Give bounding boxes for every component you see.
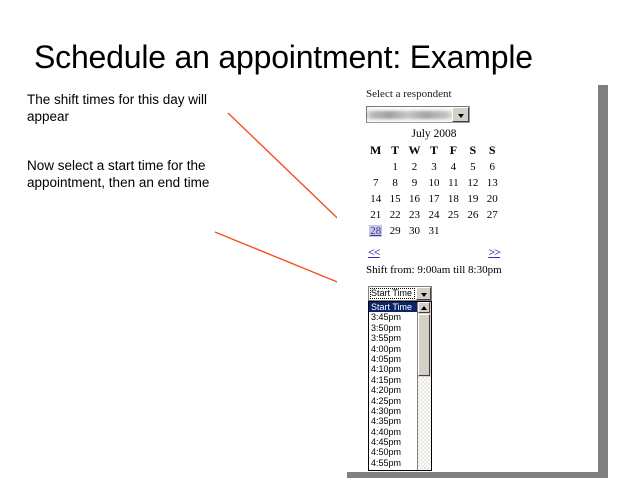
calendar-navigation: << >> [366,245,502,260]
calendar-day [483,223,502,239]
respondent-select-value [367,107,452,122]
start-time-option[interactable]: 4:00pm [369,344,417,354]
start-time-select-value: Start Time [369,287,416,300]
calendar-day[interactable]: 22 [385,207,404,223]
start-time-option[interactable]: 4:35pm [369,416,417,426]
calendar-week-row: 28 29 30 31 [366,223,502,239]
calendar-weekday: F [444,142,463,159]
start-time-option[interactable]: 4:30pm [369,406,417,416]
scroll-up-arrow-icon[interactable] [418,302,430,313]
start-time-list-scrollbar[interactable] [417,302,431,470]
start-time-option[interactable]: 4:20pm [369,385,417,395]
panel-shadow-right [598,85,608,477]
calendar-day[interactable]: 24 [424,207,443,223]
calendar-day[interactable]: 4 [444,159,463,175]
calendar-day[interactable]: 31 [424,223,443,239]
start-time-option[interactable]: 3:45pm [369,312,417,322]
calendar-month-label: July 2008 [366,128,502,142]
calendar-day[interactable]: 8 [385,175,404,191]
calendar-weekday: T [424,142,443,159]
arrow-line-shift-times [228,113,355,235]
calendar-day[interactable]: 13 [483,175,502,191]
chevron-down-icon[interactable] [416,287,431,300]
calendar-day[interactable]: 21 [366,207,385,223]
calendar-weekday: S [463,142,482,159]
calendar-widget: July 2008 M T W T F S S 1 2 3 [366,128,502,260]
start-time-option[interactable]: 4:40pm [369,427,417,437]
calendar-day [444,223,463,239]
calendar-day[interactable]: 17 [424,191,443,207]
start-time-dropdown-list[interactable]: Start Time 3:45pm 3:50pm 3:55pm 4:00pm 4… [368,301,432,471]
calendar-day[interactable]: 16 [405,191,424,207]
start-time-option[interactable]: 4:45pm [369,437,417,447]
start-time-option[interactable]: 4:05pm [369,354,417,364]
calendar-day[interactable]: 23 [405,207,424,223]
calendar-day[interactable]: 26 [463,207,482,223]
calendar-day[interactable]: 29 [385,223,404,239]
calendar-day[interactable]: 6 [483,159,502,175]
start-time-option[interactable]: 4:50pm [369,447,417,457]
respondent-select[interactable] [366,106,470,123]
calendar-day[interactable]: 30 [405,223,424,239]
calendar-weekday: M [366,142,385,159]
app-screenshot-panel: Select a respondent July 2008 M T W T F … [337,80,598,472]
respondent-label: Select a respondent [366,88,452,100]
calendar-prev-month-link[interactable]: << [368,245,380,260]
calendar-day[interactable]: 20 [483,191,502,207]
calendar-day[interactable]: 2 [405,159,424,175]
calendar-day[interactable]: 27 [483,207,502,223]
calendar-weekday: W [405,142,424,159]
start-time-option[interactable]: 4:25pm [369,396,417,406]
calendar-day[interactable]: 1 [385,159,404,175]
calendar-next-month-link[interactable]: >> [488,245,500,260]
calendar-day[interactable]: 11 [444,175,463,191]
calendar-day-selected-label: 28 [369,225,382,237]
start-time-option[interactable]: 3:50pm [369,323,417,333]
calendar-day[interactable]: 7 [366,175,385,191]
calendar-week-row: 7 8 9 10 11 12 13 [366,175,502,191]
annotation-select-start-time: Now select a start time for the appointm… [27,157,242,191]
start-time-option[interactable]: 4:10pm [369,364,417,374]
shift-info-text: Shift from: 9:00am till 8:30pm [366,264,502,276]
calendar-day[interactable]: 15 [385,191,404,207]
start-time-option-list: Start Time 3:45pm 3:50pm 3:55pm 4:00pm 4… [369,302,417,470]
start-time-option[interactable]: 3:55pm [369,333,417,343]
scrollbar-thumb[interactable] [418,314,430,376]
calendar-week-row: 21 22 23 24 25 26 27 [366,207,502,223]
calendar-weekday: T [385,142,404,159]
arrow-line-start-time [215,232,352,288]
calendar-weekday-row: M T W T F S S [366,142,502,159]
calendar-day[interactable]: 14 [366,191,385,207]
scrollbar-track[interactable] [418,377,431,470]
calendar-day-selected[interactable]: 28 [366,223,385,239]
start-time-option[interactable]: Start Time [369,302,417,312]
calendar-week-row: 14 15 16 17 18 19 20 [366,191,502,207]
calendar-grid: M T W T F S S 1 2 3 4 5 6 [366,142,502,239]
calendar-day[interactable]: 25 [444,207,463,223]
calendar-day[interactable]: 18 [444,191,463,207]
chevron-down-icon[interactable] [452,107,469,122]
calendar-day [366,159,385,175]
calendar-day[interactable]: 5 [463,159,482,175]
calendar-day [463,223,482,239]
calendar-day[interactable]: 10 [424,175,443,191]
page-title: Schedule an appointment: Example [34,38,614,76]
calendar-day[interactable]: 9 [405,175,424,191]
start-time-option[interactable]: 4:55pm [369,458,417,468]
calendar-day[interactable]: 19 [463,191,482,207]
start-time-option[interactable]: 4:15pm [369,375,417,385]
calendar-day[interactable]: 12 [463,175,482,191]
calendar-weekday: S [483,142,502,159]
start-time-select[interactable]: Start Time [368,286,432,301]
calendar-week-row: 1 2 3 4 5 6 [366,159,502,175]
calendar-day[interactable]: 3 [424,159,443,175]
annotation-shift-times: The shift times for this day will appear [27,91,242,125]
